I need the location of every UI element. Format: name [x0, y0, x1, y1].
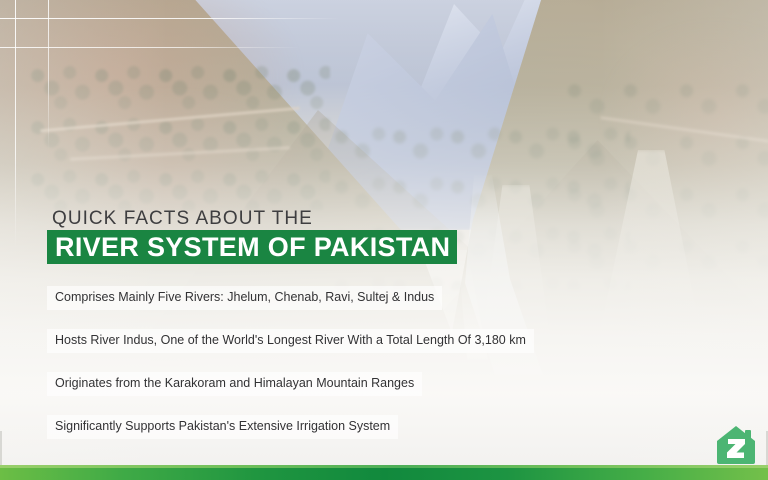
list-item: Originates from the Karakoram and Himala…	[47, 372, 647, 415]
page-title: RIVER SYSTEM OF PAKISTAN	[55, 234, 450, 261]
facts-list: Comprises Mainly Five Rivers: Jhelum, Ch…	[47, 286, 647, 458]
zameen-house-logo	[714, 424, 758, 466]
list-item: Comprises Mainly Five Rivers: Jhelum, Ch…	[47, 286, 647, 329]
infographic-slide: QUICK FACTS ABOUT THE RIVER SYSTEM OF PA…	[0, 0, 768, 480]
edge-hairline-left	[0, 431, 2, 465]
list-item: Significantly Supports Pakistan's Extens…	[47, 415, 647, 458]
list-item: Hosts River Indus, One of the World's Lo…	[47, 329, 647, 372]
fact-text: Comprises Mainly Five Rivers: Jhelum, Ch…	[47, 286, 442, 310]
title-highlight-bar: RIVER SYSTEM OF PAKISTAN	[47, 230, 457, 264]
slide-content: QUICK FACTS ABOUT THE RIVER SYSTEM OF PA…	[0, 0, 768, 480]
fact-text: Hosts River Indus, One of the World's Lo…	[47, 329, 534, 353]
fact-text: Originates from the Karakoram and Himala…	[47, 372, 422, 396]
fact-text: Significantly Supports Pakistan's Extens…	[47, 415, 398, 439]
eyebrow-heading: QUICK FACTS ABOUT THE	[52, 208, 313, 230]
bottom-green-bar	[0, 468, 768, 480]
